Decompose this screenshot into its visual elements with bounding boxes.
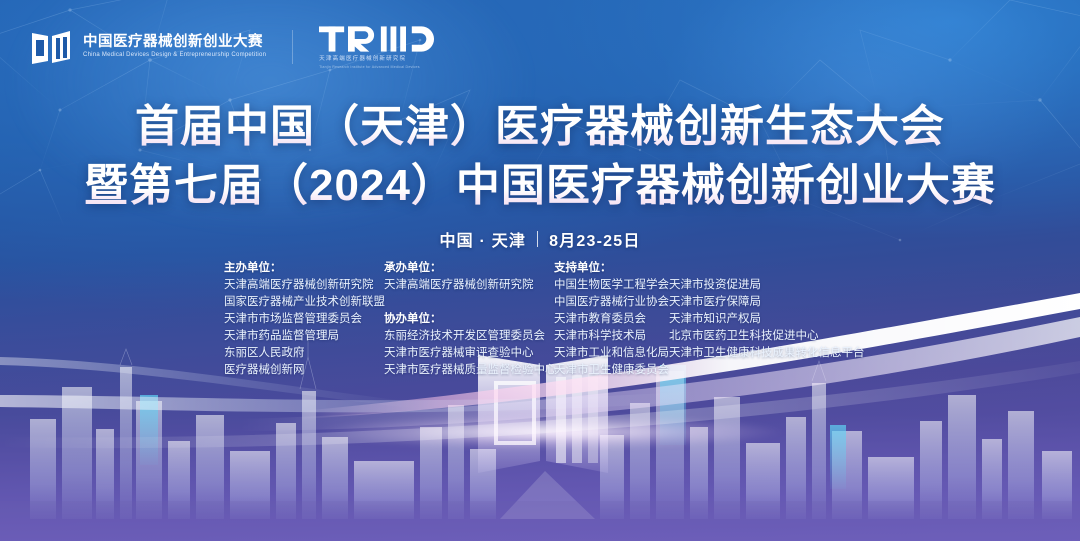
competition-logo-en-name: China Medical Devices Design & Entrepren… [83, 52, 266, 58]
organizer-item: 中国医疗器械行业协会 [554, 294, 669, 311]
organizer-item: 天津市医疗器械质量监督检验中心 [384, 362, 554, 379]
organizer-column-undertaker: 承办单位： 天津高端医疗器械创新研究院 协办单位： 东丽经济技术开发区管理委员会… [384, 260, 554, 379]
column-heading-secondary: 协办单位： [384, 311, 554, 328]
organizer-item: 天津高端医疗器械创新研究院 [384, 277, 554, 294]
organizer-item: 天津高端医疗器械创新研究院 [224, 277, 384, 294]
organizer-item: 东丽经济技术开发区管理委员会 [384, 328, 554, 345]
main-title-line-2: 暨第七届（2024）中国医疗器械创新创业大赛 [0, 157, 1080, 216]
column-heading: 主办单位： [224, 260, 384, 277]
event-date: 8月23-25日 [549, 227, 640, 251]
institute-logo: 天津高端医疗器械创新研究院 Tianjin Research Institute… [319, 24, 435, 69]
main-title-line-1: 首届中国（天津）医疗器械创新生态大会 [0, 98, 1080, 157]
organizer-item: 天津市卫生健康委员会 [554, 362, 669, 379]
institute-logo-en-name: Tianjin Research Institute for Advanced … [319, 66, 420, 70]
organizer-column-support-a: 支持单位： 中国生物医学工程学会 中国医疗器械行业协会 天津市教育委员会 天津市… [554, 260, 669, 379]
institute-logo-cn-name: 天津高端医疗器械创新研究院 [319, 57, 406, 63]
organizer-item: 天津市市场监督管理委员会 [224, 311, 384, 328]
separator-icon [537, 231, 538, 247]
conference-poster: 中国医疗器械创新创业大赛 China Medical Devices Desig… [0, 0, 1080, 541]
organizer-item: 国家医疗器械产业技术创新联盟 [224, 294, 384, 311]
organizer-column-host: 主办单位： 天津高端医疗器械创新研究院 国家医疗器械产业技术创新联盟 天津市市场… [224, 260, 384, 379]
column-heading: 承办单位： [384, 260, 554, 277]
organizer-columns: 主办单位： 天津高端医疗器械创新研究院 国家医疗器械产业技术创新联盟 天津市市场… [224, 260, 869, 379]
organizer-item: 天津市医疗器械审评查验中心 [384, 345, 554, 362]
title-block: 首届中国（天津）医疗器械创新生态大会 暨第七届（2024）中国医疗器械创新创业大… [0, 98, 1080, 251]
competition-logo: 中国医疗器械创新创业大赛 China Medical Devices Desig… [30, 27, 266, 67]
logo-divider [292, 30, 293, 64]
event-location: 中国 · 天津 [439, 227, 526, 251]
column-spacer [384, 294, 554, 311]
organizer-item: 医疗器械创新网 [224, 362, 384, 379]
poster-header: 中国医疗器械创新创业大赛 China Medical Devices Desig… [30, 24, 435, 69]
organizer-item: 天津市卫生健康科技成果转化信息平台 [669, 345, 869, 362]
organizer-item: 天津市教育委员会 [554, 311, 669, 328]
organizer-item: 东丽区人民政府 [224, 345, 384, 362]
organizer-item: 天津市科学技术局 [554, 328, 669, 345]
organizer-item: 天津市知识产权局 [669, 311, 869, 328]
competition-logo-cn-name: 中国医疗器械创新创业大赛 [83, 35, 266, 50]
location-date-bar: 中国 · 天津 8月23-25日 [0, 227, 1080, 251]
organizer-column-support-b: 天津市投资促进局 天津市医疗保障局 天津市知识产权局 北京市医药卫生科技促进中心… [669, 260, 869, 362]
triid-wordmark-icon [319, 24, 435, 54]
column-heading: 支持单位： [554, 260, 669, 277]
organizer-item: 天津市药品监督管理局 [224, 328, 384, 345]
organizer-item: 天津市医疗保障局 [669, 294, 869, 311]
organizer-item: 天津市投资促进局 [669, 277, 869, 294]
organizer-item: 中国生物医学工程学会 [554, 277, 669, 294]
organizer-item: 天津市工业和信息化局 [554, 345, 669, 362]
open-book-door-logo-icon [30, 27, 74, 67]
organizer-item: 北京市医药卫生科技促进中心 [669, 328, 869, 345]
